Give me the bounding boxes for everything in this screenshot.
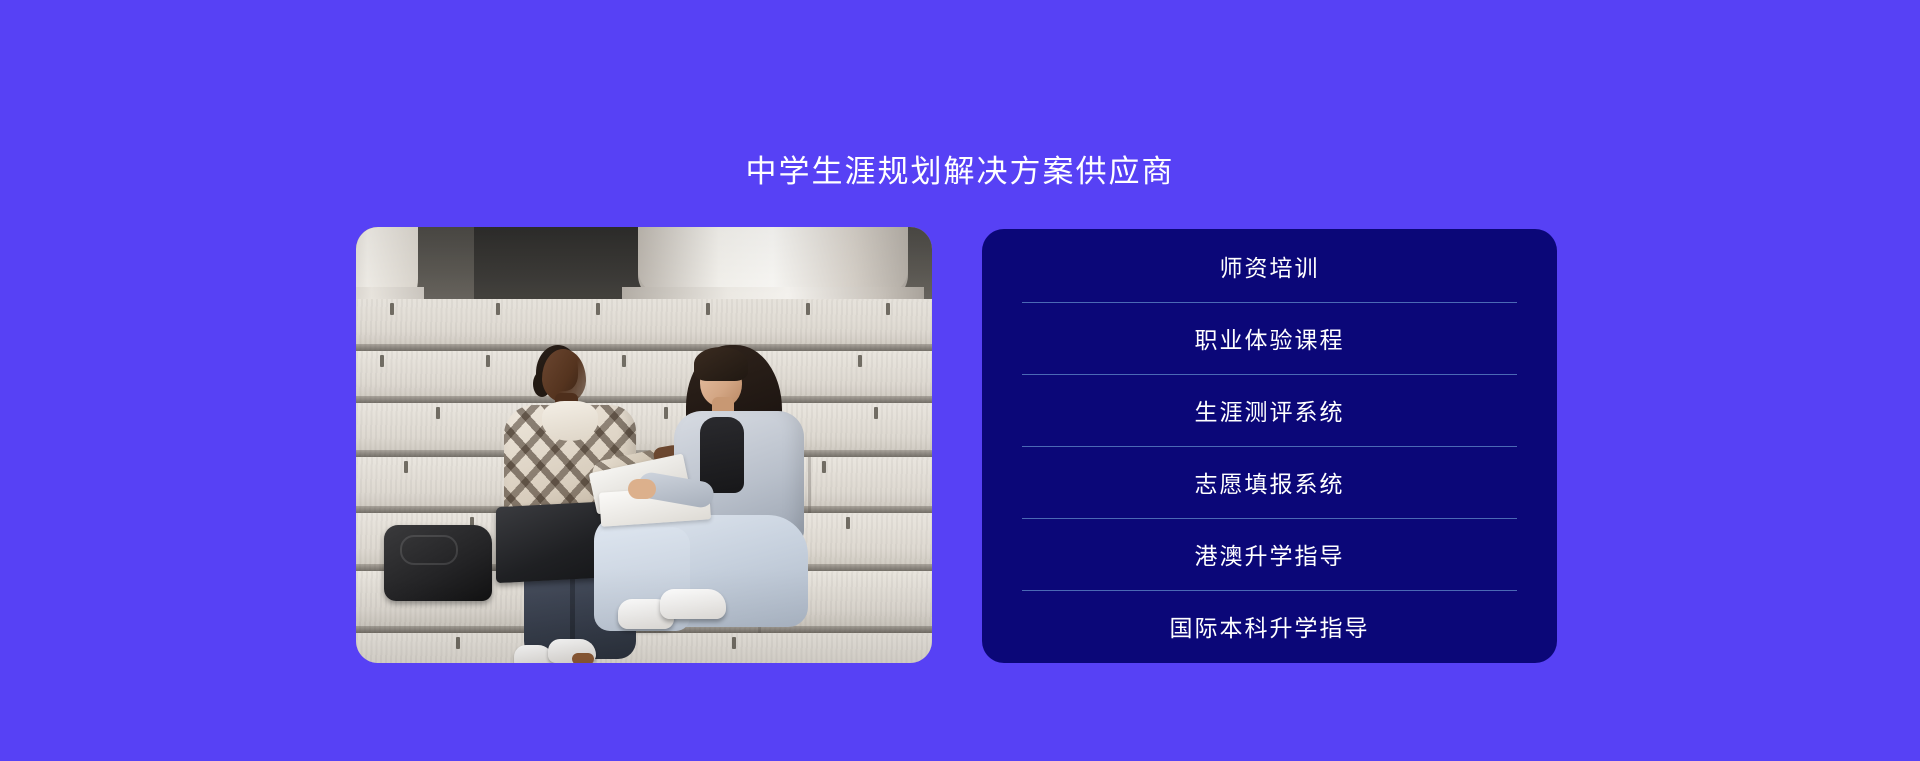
hero-photo-card <box>356 227 932 663</box>
page-root: 中学生涯规划解决方案供应商 <box>0 0 1920 761</box>
student-right-hair-top <box>694 347 748 381</box>
backpack <box>384 525 492 601</box>
menu-item-label: 生涯测评系统 <box>1195 393 1345 427</box>
menu-item-label: 职业体验课程 <box>1195 321 1345 355</box>
menu-item-label: 港澳升学指导 <box>1195 537 1345 571</box>
menu-item-career-assessment-system[interactable]: 生涯测评系统 <box>982 374 1557 446</box>
services-menu-card: 师资培训 职业体验课程 生涯测评系统 志愿填报系统 港澳升学指导 国际本科升学指… <box>982 229 1557 663</box>
menu-item-career-experience-course[interactable]: 职业体验课程 <box>982 302 1557 374</box>
student-right-inner-top <box>700 417 744 493</box>
student-right-hand <box>628 479 656 499</box>
student-right-shoe <box>660 589 726 619</box>
step <box>356 633 932 663</box>
page-title: 中学生涯规划解决方案供应商 <box>0 152 1920 192</box>
student-left-hood <box>542 401 598 441</box>
menu-item-hk-macau-admission-guidance[interactable]: 港澳升学指导 <box>982 518 1557 590</box>
step <box>356 299 932 351</box>
stone-column-right <box>638 227 908 301</box>
student-left-shoe <box>548 639 596 663</box>
menu-item-international-undergrad-guidance[interactable]: 国际本科升学指导 <box>982 590 1557 662</box>
menu-item-label: 师资培训 <box>1220 249 1320 283</box>
step <box>356 351 932 403</box>
students-on-steps-photo <box>356 227 932 663</box>
menu-item-teacher-training[interactable]: 师资培训 <box>982 230 1557 302</box>
main-content: 师资培训 职业体验课程 生涯测评系统 志愿填报系统 港澳升学指导 国际本科升学指… <box>356 227 1557 663</box>
step <box>356 403 932 457</box>
menu-item-application-filing-system[interactable]: 志愿填报系统 <box>982 446 1557 518</box>
menu-item-label: 国际本科升学指导 <box>1170 609 1370 643</box>
menu-item-label: 志愿填报系统 <box>1195 465 1345 499</box>
